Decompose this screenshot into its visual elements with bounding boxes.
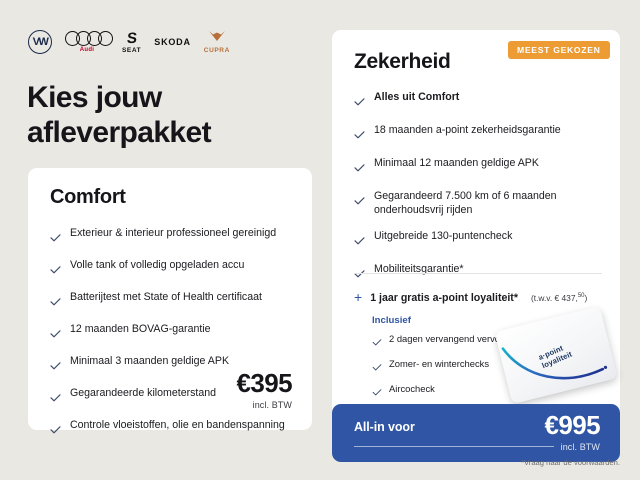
check-icon [372,358,382,376]
check-icon [50,389,61,407]
vw-roundel-icon: VW [28,30,52,54]
check-icon [354,265,365,283]
check-icon [50,325,61,343]
section-divider [354,273,602,274]
comfort-price-block: €395 incl. BTW [237,370,292,410]
skoda-logo-icon: SKODA [154,38,191,47]
package-card-comfort[interactable]: Comfort Exterieur & interieur profession… [28,168,312,430]
list-item: 12 maanden BOVAG-garantie [50,322,295,343]
audi-four-rings-icon [65,31,109,46]
list-item: Batterijtest met State of Health certifi… [50,290,295,311]
list-item-label: Aircocheck [389,383,435,394]
list-item-label: Minimaal 12 maanden geldige APK [374,156,539,170]
check-icon [50,421,61,439]
check-icon [354,93,365,111]
list-item: Controle vloeistoffen, olie en bandenspa… [50,418,295,439]
audi-logo-icon: Audi [65,31,109,53]
list-item: Minimaal 12 maanden geldige APK [354,156,604,177]
seat-wordmark: SEAT [122,47,141,54]
list-item-label: Uitgebreide 130-puntencheck [374,229,512,243]
allin-price-note: incl. BTW [545,442,600,452]
allin-price: €995 [545,412,600,438]
seat-s-icon: S [126,31,138,46]
loyalty-bonus-label: 1 jaar gratis a-point loyaliteit* [370,292,518,304]
allin-label: All-in voor [354,420,415,434]
footnote: *Vraag naar de voorwaarden. [521,458,620,467]
list-item: 18 maanden a-point zekerheidsgarantie [354,123,604,144]
cupra-logo-icon: CUPRA [204,30,230,54]
loyalty-bonus-value: (t.w.v. € 437,50) [531,293,587,303]
list-item-label: Gegarandeerd 7.500 km of 6 maanden onder… [374,189,604,217]
list-item: Volle tank of volledig opgeladen accu [50,258,295,279]
list-item-label: Controle vloeistoffen, olie en bandenspa… [70,418,285,432]
audi-wordmark: Audi [80,47,95,53]
list-item-label: 2 dagen vervangend vervoer [389,333,508,344]
loyalty-value-suffix: ) [585,293,588,303]
list-item-label: 12 maanden BOVAG-garantie [70,322,211,336]
list-item-label: Batterijtest met State of Health certifi… [70,290,262,304]
promo-poster: VW Audi S SEAT SKODA CUPRA Kies jo [0,0,640,480]
page-title-line-1: Kies jouw [27,80,307,115]
check-icon [50,261,61,279]
check-icon [50,357,61,375]
skoda-wordmark: SKODA [154,38,191,47]
check-icon [354,192,365,210]
check-icon [372,333,382,351]
cupra-wordmark: CUPRA [204,47,230,54]
allin-rule [354,446,554,447]
comfort-feature-list: Exterieur & interieur professioneel gere… [50,226,295,450]
check-icon [372,383,382,401]
brand-logo-bar: VW Audi S SEAT SKODA CUPRA [28,28,230,56]
vw-monogram: VW [33,37,48,48]
loyalty-value-prefix: (t.w.v. € 437, [531,293,578,303]
loyalty-bonus-row: + 1 jaar gratis a-point loyaliteit* (t.w… [354,289,616,304]
check-icon [354,232,365,250]
list-item-label: Mobiliteitsgarantie* [374,262,464,276]
check-icon [50,293,61,311]
status-badge: MEEST GEKOZEN [508,41,610,59]
comfort-price: €395 [237,370,292,396]
list-item: Exterieur & interieur professioneel gere… [50,226,295,247]
comfort-title: Comfort [50,186,126,209]
cupra-tribal-icon [208,30,226,46]
list-item-label: 18 maanden a-point zekerheidsgarantie [374,123,561,137]
list-item-label: Zomer- en winterchecks [389,358,489,369]
check-icon [354,126,365,144]
allin-price-block: €995 incl. BTW [545,412,600,452]
loyalty-value-cents: 50 [578,293,585,299]
seat-logo-icon: S SEAT [122,31,141,54]
check-icon [354,159,365,177]
check-icon [50,229,61,247]
plus-icon: + [354,290,362,304]
list-item-label: Minimaal 3 maanden geldige APK [70,354,229,368]
list-item-label: Gegarandeerde kilometerstand [70,386,216,400]
list-item: Uitgebreide 130-puntencheck [354,229,604,250]
page-title-line-2: afleverpakket [27,115,307,150]
comfort-price-note: incl. BTW [237,400,292,410]
allin-price-bar[interactable]: All-in voor €995 incl. BTW [332,404,620,462]
zekerheid-title: Zekerheid [354,50,451,74]
volkswagen-logo-icon: VW [28,30,52,54]
list-item-label: Exterieur & interieur professioneel gere… [70,226,276,240]
zekerheid-feature-list: Alles uit Comfort 18 maanden a-point zek… [354,90,604,295]
list-item-label: Volle tank of volledig opgeladen accu [70,258,244,272]
list-item-label: Alles uit Comfort [374,90,459,104]
list-item: Gegarandeerd 7.500 km of 6 maanden onder… [354,189,604,217]
list-item: Alles uit Comfort [354,90,604,111]
page-title: Kies jouw afleverpakket [27,80,307,150]
